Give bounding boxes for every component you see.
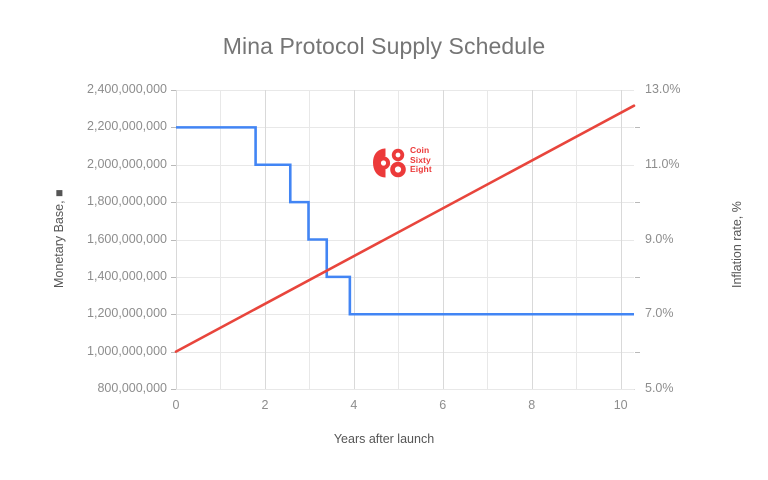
y2-axis-tick-label: 9.0% (645, 232, 674, 246)
gridline-horizontal (176, 240, 634, 241)
y-axis-tick-label: 2,000,000,000 (87, 157, 167, 171)
y2-axis-tick-mark (635, 202, 640, 203)
gridline-vertical (220, 90, 221, 389)
gridline-vertical (265, 90, 266, 389)
y-axis-tick-label: 1,200,000,000 (87, 306, 167, 320)
gridline-vertical (487, 90, 488, 389)
x-axis-title: Years after launch (0, 432, 768, 446)
x-axis-tick-label: 10 (591, 398, 651, 412)
y2-axis-title: Inflation rate, % (730, 201, 744, 288)
y-axis-tick-label: 2,200,000,000 (87, 119, 167, 133)
y-axis-tick-label: 1,000,000,000 (87, 344, 167, 358)
gridline-vertical (354, 90, 355, 389)
gridline-vertical (398, 90, 399, 389)
y-axis-tick-label: 1,400,000,000 (87, 269, 167, 283)
gridline-horizontal (176, 127, 634, 128)
plot-area (176, 90, 634, 389)
gridline-horizontal (176, 165, 634, 166)
x-axis-tick-label: 8 (502, 398, 562, 412)
gridline-vertical (443, 90, 444, 389)
x-axis-tick-label: 0 (146, 398, 206, 412)
gridline-horizontal (176, 389, 634, 390)
y-axis-title: Monetary Base, ■ (52, 189, 66, 288)
chart-title: Mina Protocol Supply Schedule (0, 33, 768, 60)
gridline-vertical (309, 90, 310, 389)
gridline-horizontal (176, 90, 634, 91)
y-axis-tick-label: 2,400,000,000 (87, 82, 167, 96)
gridline-horizontal (176, 202, 634, 203)
x-axis-tick-label: 4 (324, 398, 384, 412)
gridline-vertical (176, 90, 177, 389)
y-axis-tick-label: 1,600,000,000 (87, 232, 167, 246)
gridline-horizontal (176, 277, 634, 278)
y2-axis-tick-mark (635, 277, 640, 278)
gridline-horizontal (176, 352, 634, 353)
gridline-vertical (576, 90, 577, 389)
x-axis-tick-label: 2 (235, 398, 295, 412)
y2-axis-tick-label: 11.0% (645, 157, 680, 171)
y2-axis-tick-label: 7.0% (645, 306, 674, 320)
chart-container: Mina Protocol Supply Schedule Monetary B… (0, 0, 768, 480)
y2-axis-tick-label: 5.0% (645, 381, 674, 395)
y2-axis-tick-mark (635, 127, 640, 128)
y-axis-tick-label: 800,000,000 (97, 381, 167, 395)
gridline-vertical (621, 90, 622, 389)
y2-axis-tick-label: 13.0% (645, 82, 680, 96)
y2-axis-tick-mark (635, 352, 640, 353)
gridline-horizontal (176, 314, 634, 315)
gridline-vertical (532, 90, 533, 389)
x-axis-tick-label: 6 (413, 398, 473, 412)
y-axis-tick-label: 1,800,000,000 (87, 194, 167, 208)
